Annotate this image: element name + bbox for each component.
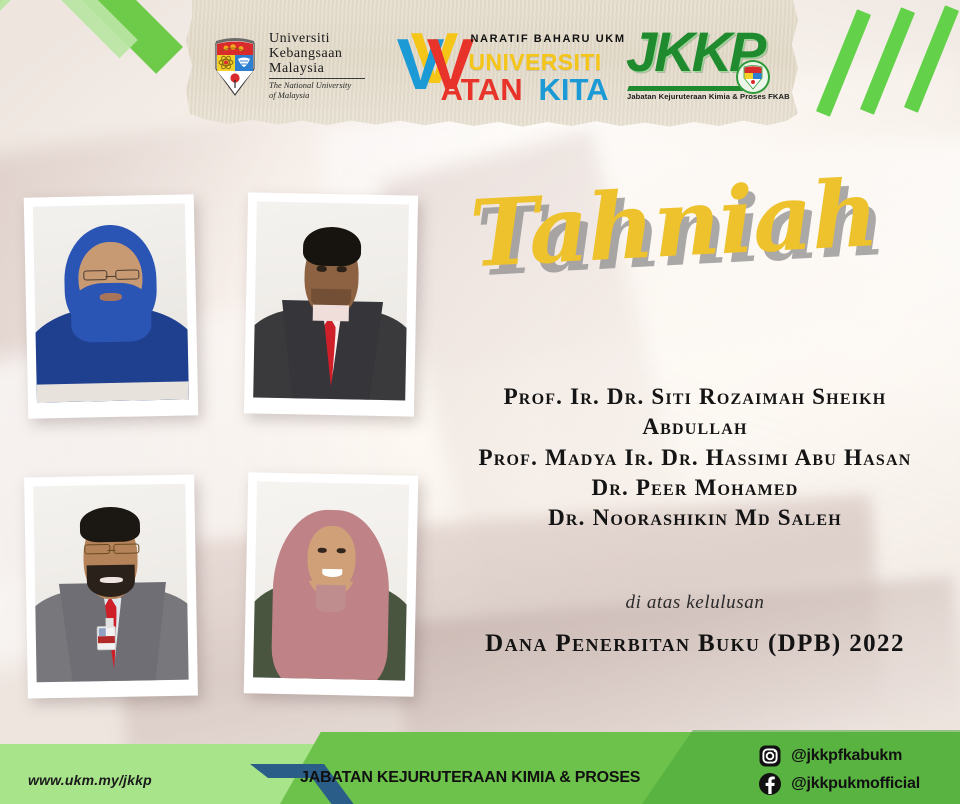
header-logo-row: Universiti Kebangsaan Malaysia The Natio… [186, 14, 798, 118]
ukm-line-1: Universiti [269, 32, 365, 46]
social-links: @jkkpfkabukm @jkkpukmofficial [758, 744, 920, 796]
instagram-icon [758, 744, 782, 768]
recipient-list: Prof. Ir. Dr. Siti Rozaimah Sheikh Abdul… [440, 382, 950, 534]
photo-frame [244, 472, 419, 697]
footer-website-url[interactable]: www.ukm.my/jkkp [28, 772, 152, 788]
naratif-tagline: NARATIF BAHARU UKM [471, 33, 626, 45]
headline-tahniah: Tahniah [468, 164, 942, 280]
portrait-hassimi [253, 202, 409, 401]
ukm-line-3: Malaysia [269, 62, 365, 76]
ukm-tagline-2: of Malaysia [269, 91, 365, 101]
recipient-name: Dr. Peer Mohamed [440, 473, 950, 503]
facebook-icon [758, 772, 782, 796]
ukm-crest-icon [210, 35, 260, 97]
ukm-divider [269, 78, 365, 79]
diagonal-slash-decoration [904, 5, 959, 113]
headline-block: Tahniah Tahniah [470, 176, 940, 306]
jkkp-logo: JKKP Jabatan Kejuruteraan Kimia & Proses… [624, 26, 774, 106]
ukm-line-2: Kebangsaan [269, 47, 365, 61]
facebook-handle: @jkkpukmofficial [791, 775, 920, 793]
recipient-name: Abdullah [440, 412, 950, 442]
social-link-facebook[interactable]: @jkkpukmofficial [758, 772, 920, 796]
corner-chevron-inner-decoration [0, 0, 138, 142]
recipient-name: Prof. Ir. Dr. Siti Rozaimah Sheikh [440, 382, 950, 412]
footer-bar: www.ukm.my/jkkp JABATAN KEJURUTERAAN KIM… [0, 744, 960, 804]
photo-frame [24, 194, 199, 419]
diagonal-slash-decoration [816, 9, 871, 117]
watan-kita-logo: V V V NARATIF BAHARU UKM UNIVERSITI ATAN… [397, 27, 593, 105]
kita-word: KITA [539, 72, 609, 108]
recipient-name: Prof. Madya Ir. Dr. Hassimi Abu Hasan [440, 443, 950, 473]
jkkp-mini-crest-icon [736, 60, 770, 94]
jkkp-underline-decoration [627, 86, 747, 91]
photo-frame [244, 192, 418, 416]
diagonal-slash-decoration [860, 7, 915, 115]
poster-canvas: Universiti Kebangsaan Malaysia The Natio… [0, 0, 960, 804]
ukm-logo: Universiti Kebangsaan Malaysia The Natio… [210, 32, 365, 101]
corner-chevron-outer-decoration [0, 0, 183, 187]
photo-frame [24, 475, 198, 699]
portrait-siti-rozaimah [33, 203, 189, 402]
recipient-name: Dr. Noorashikin Md Saleh [440, 503, 950, 533]
instagram-handle: @jkkpfkabukm [791, 747, 902, 765]
ukm-logo-text: Universiti Kebangsaan Malaysia The Natio… [269, 32, 365, 101]
footer-department-name: JABATAN KEJURUTERAAN KIMIA & PROSES [300, 769, 640, 787]
congratulation-subtitle: di atas kelulusan [440, 592, 950, 614]
portrait-peer-mohamed [33, 484, 188, 683]
jkkp-subtitle: Jabatan Kejuruteraan Kimia & Proses FKAB [627, 92, 790, 101]
award-title: Dana Penerbitan Buku (DPB) 2022 [440, 630, 950, 658]
portrait-noorashikin [253, 481, 409, 680]
social-link-instagram[interactable]: @jkkpfkabukm [758, 744, 920, 768]
watan-word: ATAN [441, 72, 523, 108]
